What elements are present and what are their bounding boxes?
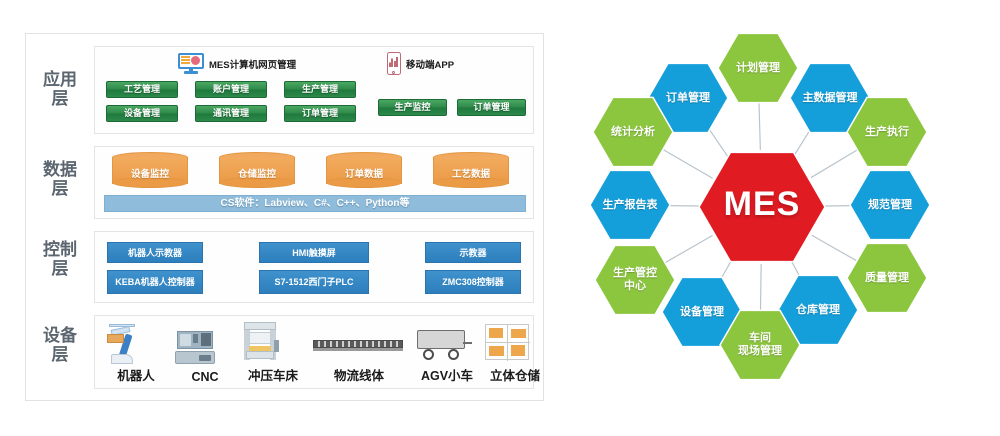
control-hmi-touchscreen[interactable]: HMI触摸屏 (259, 242, 369, 263)
cs-software-bar: CS软件：Labview、C#、C++、Python等 (104, 195, 526, 212)
mes-hexagon-diagram: 计划管理订单管理主数据管理统计分析生产执行生产报告表规范管理生产管控 中心质量管… (575, 0, 1000, 436)
app-button-production-monitoring[interactable]: 生产监控 (378, 99, 447, 116)
equipment-label: 冲压车床 (241, 365, 305, 384)
mobile-phone-chart-icon (387, 52, 401, 75)
agv-cart-icon (413, 320, 481, 364)
database-process-data: 工艺数据 (433, 152, 509, 190)
equipment-label: 物流线体 (313, 365, 405, 384)
equipment-label: 机器人 (105, 365, 167, 384)
equipment-label: CNC (175, 370, 235, 384)
mobile-app-heading-label: 移动端APP (406, 57, 454, 71)
layer-label-application: 应用层 (40, 70, 80, 108)
app-button-mobile-order-management[interactable]: 订单管理 (457, 99, 526, 116)
conveyor-belt-icon (313, 320, 405, 364)
database-warehouse-monitoring: 仓储监控 (219, 152, 295, 190)
app-button-order-management[interactable]: 订单管理 (284, 105, 356, 122)
layer-label-control: 控制层 (40, 240, 80, 278)
app-button-communication-management[interactable]: 通讯管理 (195, 105, 267, 122)
cnc-machine-icon (175, 325, 235, 369)
connector-line-plan-management (759, 100, 760, 150)
data-layer-box: 设备监控 仓储监控 订单数据 工艺数据 CS软件：Labview、C#、C++、… (94, 146, 534, 219)
equipment-item-stamping-press: 冲压车床 (241, 320, 305, 384)
connector-line-production-control-ctr (663, 235, 713, 264)
app-button-account-management[interactable]: 账户管理 (195, 81, 267, 98)
app-button-process-management[interactable]: 工艺管理 (106, 81, 178, 98)
mes-center-hexagon (699, 152, 825, 261)
database-label: 仓储监控 (219, 166, 295, 180)
mes-diagram-svg (575, 0, 1000, 436)
monitor-chart-icon (178, 53, 204, 74)
hexagon-production-report[interactable] (590, 170, 670, 239)
control-keba-robot-controller[interactable]: KEBA机器人控制器 (107, 270, 203, 294)
mes-web-heading: MES计算机网页管理 (178, 53, 296, 74)
hexagon-production-control-ctr[interactable] (595, 245, 675, 314)
database-label: 订单数据 (326, 166, 402, 180)
hexagon-plan-management[interactable] (718, 33, 798, 102)
equipment-label: AGV小车 (413, 365, 481, 384)
equipment-item-conveyor: 物流线体 (313, 320, 405, 384)
equipment-layer-box: 机器人 CNC 冲压车床 物流线体 (94, 315, 534, 389)
control-siemens-plc[interactable]: S7-1512西门子PLC (259, 270, 369, 294)
database-equipment-monitoring: 设备监控 (112, 152, 188, 190)
mobile-app-heading: 移动端APP (387, 52, 454, 75)
control-teach-pendant[interactable]: 示教器 (425, 242, 521, 263)
hexagon-specification-mgmt[interactable] (850, 170, 930, 239)
connector-line-statistical-analysis (661, 148, 713, 178)
layer-label-data: 数据层 (40, 160, 80, 198)
equipment-item-agv: AGV小车 (413, 320, 481, 384)
layer-label-equipment: 设备层 (40, 326, 80, 364)
connector-line-workshop-site-mgmt (760, 264, 761, 313)
equipment-item-cnc: CNC (175, 325, 235, 384)
warehouse-rack-icon (485, 320, 545, 364)
mes-web-heading-label: MES计算机网页管理 (209, 57, 296, 71)
connector-line-production-execution (811, 148, 860, 177)
equipment-item-robot: 机器人 (105, 320, 167, 384)
control-zmc308-controller[interactable]: ZMC308控制器 (425, 270, 521, 294)
control-layer-box: 机器人示教器 HMI触摸屏 示教器 KEBA机器人控制器 S7-1512西门子P… (94, 231, 534, 303)
application-layer-box: MES计算机网页管理 移动端APP 工艺管理 账户管理 生产管理 设备管理 通讯… (94, 46, 534, 134)
equipment-label: 立体仓储 (485, 365, 545, 384)
database-label: 设备监控 (112, 166, 188, 180)
industrial-robot-icon (105, 320, 167, 364)
hexagon-quality-management[interactable] (847, 243, 927, 312)
app-button-production-management[interactable]: 生产管理 (284, 81, 356, 98)
control-robot-teach-pendant[interactable]: 机器人示教器 (107, 242, 203, 263)
mes-architecture-infographic: 应用层 数据层 控制层 设备层 MES计算机网页管理 移 (0, 0, 1000, 436)
stamping-press-icon (241, 320, 305, 364)
connector-line-quality-management (812, 235, 860, 262)
database-label: 工艺数据 (433, 166, 509, 180)
database-order-data: 订单数据 (326, 152, 402, 190)
app-button-equipment-management[interactable]: 设备管理 (106, 105, 178, 122)
architecture-panel: 应用层 数据层 控制层 设备层 MES计算机网页管理 移 (25, 33, 544, 401)
equipment-item-warehouse: 立体仓储 (485, 320, 545, 384)
hexagon-mes-center[interactable] (699, 152, 825, 261)
